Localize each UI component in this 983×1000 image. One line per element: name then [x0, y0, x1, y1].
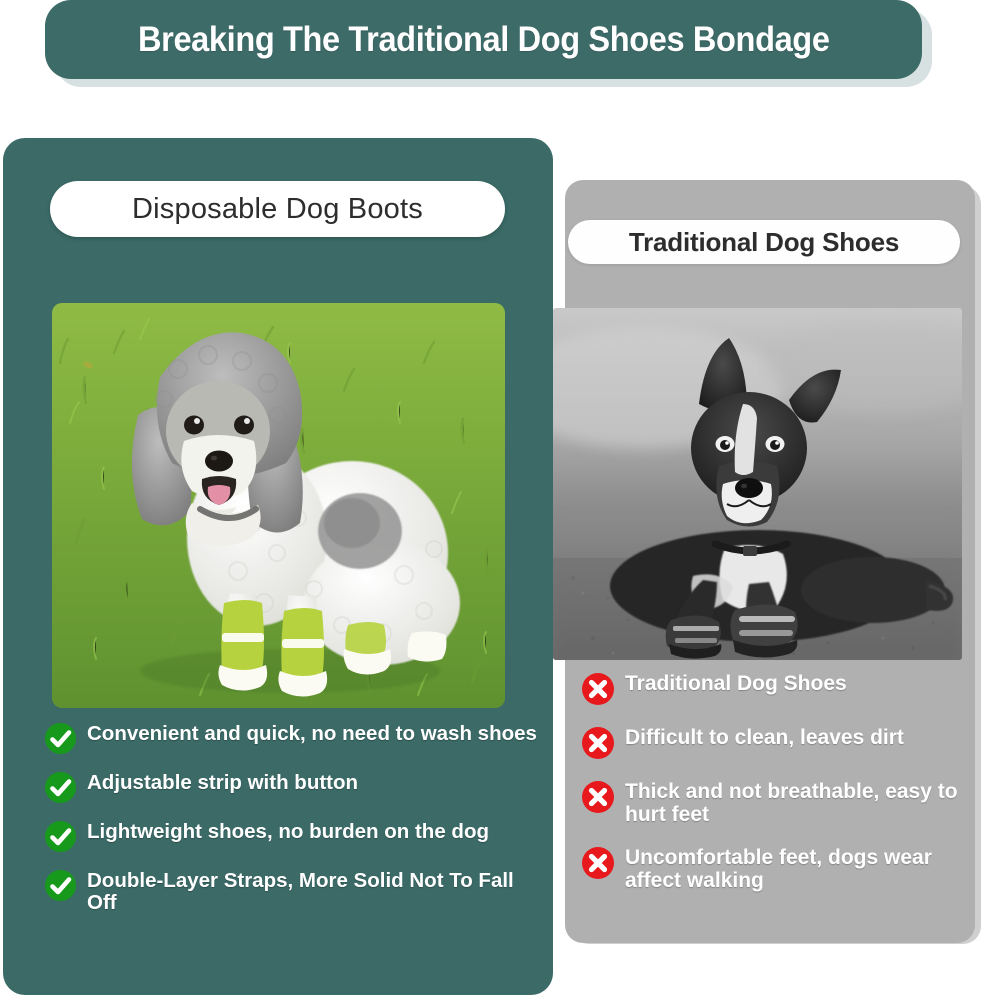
check-circle-icon [44, 722, 77, 755]
list-item-label: Convenient and quick, no need to wash sh… [87, 722, 537, 745]
x-circle-icon [581, 672, 615, 706]
check-circle-icon [44, 820, 77, 853]
list-item-label: Uncomfortable feet, dogs wear affect wal… [625, 846, 971, 892]
pro-panel-title-pill: Disposable Dog Boots [50, 181, 505, 237]
x-circle-icon [581, 780, 615, 814]
check-circle-icon [44, 771, 77, 804]
con-product-photo [553, 308, 962, 660]
con-panel-title: Traditional Dog Shoes [629, 227, 899, 258]
list-item-label: Double-Layer Straps, More Solid Not To F… [87, 869, 544, 914]
list-item-label: Lightweight shoes, no burden on the dog [87, 820, 489, 843]
list-item: Difficult to clean, leaves dirt [581, 726, 971, 760]
list-item: Double-Layer Straps, More Solid Not To F… [44, 869, 544, 914]
list-item-label: Traditional Dog Shoes [625, 672, 847, 695]
list-item-label: Adjustable strip with button [87, 771, 358, 794]
list-item: Uncomfortable feet, dogs wear affect wal… [581, 846, 971, 892]
list-item: Lightweight shoes, no burden on the dog [44, 820, 544, 853]
con-panel-title-pill: Traditional Dog Shoes [568, 220, 960, 264]
list-item: Adjustable strip with button [44, 771, 544, 804]
border-collie-traditional-boots-image [553, 308, 962, 660]
x-circle-icon [581, 726, 615, 760]
list-item-label: Thick and not breathable, easy to hurt f… [625, 780, 971, 826]
header-banner: Breaking The Traditional Dog Shoes Bonda… [45, 0, 922, 79]
pro-product-photo [52, 303, 505, 708]
list-item: Thick and not breathable, easy to hurt f… [581, 780, 971, 826]
list-item: Traditional Dog Shoes [581, 672, 971, 706]
page-title: Breaking The Traditional Dog Shoes Bonda… [138, 20, 830, 60]
pro-panel-title: Disposable Dog Boots [132, 193, 423, 226]
pro-bullet-list: Convenient and quick, no need to wash sh… [44, 722, 544, 930]
poodle-green-boots-image [52, 303, 505, 708]
list-item-label: Difficult to clean, leaves dirt [625, 726, 904, 749]
x-circle-icon [581, 846, 615, 880]
list-item: Convenient and quick, no need to wash sh… [44, 722, 544, 755]
con-bullet-list: Traditional Dog Shoes Difficult to clean… [581, 672, 971, 912]
check-circle-icon [44, 869, 77, 902]
